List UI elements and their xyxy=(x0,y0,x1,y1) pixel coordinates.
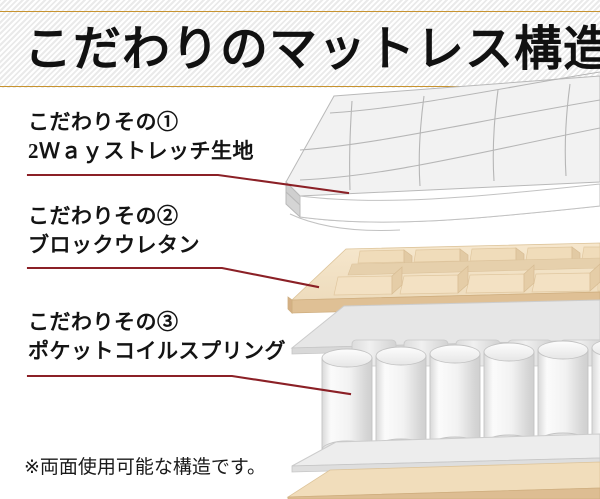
callout-1-number: こだわりその① xyxy=(28,108,254,136)
footnote: ※両面使用可能な構造です。 xyxy=(24,455,266,481)
page-title: こだわりのマットレス構造 xyxy=(24,16,584,84)
leader-line-2 xyxy=(28,268,318,287)
infographic-page: こだわりのマットレス構造 xyxy=(0,0,600,499)
coil xyxy=(430,345,480,455)
urethane-block-layer xyxy=(288,243,600,313)
header-rule-bottom xyxy=(0,86,600,87)
coil xyxy=(322,349,372,459)
urethane-block-layer-bottom xyxy=(288,462,600,499)
felt-sheet-upper xyxy=(292,300,600,354)
coil xyxy=(376,347,426,457)
callout-1: こだわりその① 2Ｗａｙストレッチ生地 xyxy=(28,108,254,166)
header-white-mask xyxy=(0,88,600,100)
callout-3-name: ポケットコイルスプリング xyxy=(28,336,286,366)
coil xyxy=(592,339,600,440)
callout-3-number: こだわりその③ xyxy=(28,308,286,336)
callout-2: こだわりその② ブロックウレタン xyxy=(28,202,200,260)
header-rule-top xyxy=(0,11,600,12)
callout-2-number: こだわりその② xyxy=(28,202,200,230)
coil xyxy=(538,341,588,451)
coil xyxy=(484,343,534,453)
felt-sheet-lower xyxy=(292,434,600,472)
leader-line-3 xyxy=(28,376,350,394)
callout-3: こだわりその③ ポケットコイルスプリング xyxy=(28,308,286,366)
callout-1-name: 2Ｗａｙストレッチ生地 xyxy=(28,136,254,166)
pocket-coil-layer xyxy=(322,339,600,459)
callout-2-name: ブロックウレタン xyxy=(28,230,200,260)
leader-line-1 xyxy=(28,175,348,193)
